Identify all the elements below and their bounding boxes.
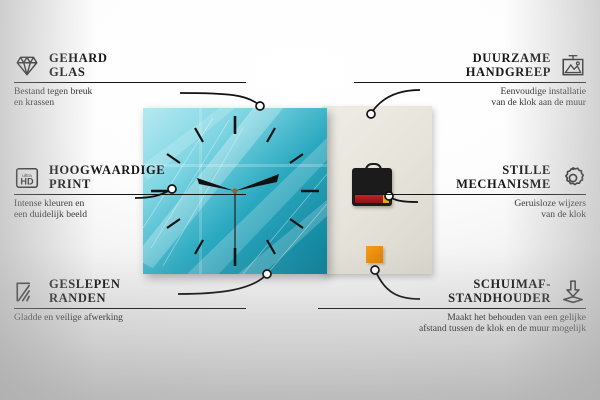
feature-gehard-glas: GEHARD GLAS Bestand tegen breuk en krass… bbox=[14, 52, 246, 109]
svg-text:HD: HD bbox=[20, 176, 34, 186]
divider bbox=[318, 308, 586, 309]
feature-subtitle: Gladde en veilige afwerking bbox=[14, 312, 246, 323]
feature-title: SCHUIMAF- STANDHOUDER bbox=[448, 278, 551, 305]
feature-subtitle: Intense kleuren en een duidelijk beeld bbox=[14, 198, 246, 221]
feature-heading: DUURZAME HANDGREEP bbox=[354, 52, 586, 79]
feature-heading: GEHARD GLAS bbox=[14, 52, 246, 79]
feature-subtitle: Bestand tegen breuk en krassen bbox=[14, 86, 246, 109]
ultra-hd-icon: ultra HD bbox=[14, 165, 40, 191]
feature-geslepen-randen: GESLEPEN RANDEN Gladde en veilige afwerk… bbox=[14, 278, 246, 323]
feature-title: STILLE MECHANISME bbox=[456, 164, 551, 191]
feature-title: GEHARD GLAS bbox=[49, 52, 107, 79]
feature-duurzame-handgreep: DUURZAME HANDGREEP Eenvoudige installati… bbox=[354, 52, 586, 109]
feature-title: HOOGWAARDIGE PRINT bbox=[49, 164, 165, 191]
feature-subtitle: Eenvoudige installatie van de klok aan d… bbox=[354, 86, 586, 109]
feature-subtitle: Maakt het behouden van een gelijke afsta… bbox=[318, 312, 586, 335]
infographic-canvas: GEHARD GLAS Bestand tegen breuk en krass… bbox=[0, 0, 600, 400]
beveled-edges-icon bbox=[14, 279, 40, 305]
feature-title: DUURZAME HANDGREEP bbox=[466, 52, 551, 79]
feature-schuimaf-standhouder: SCHUIMAF- STANDHOUDER Maakt het behouden… bbox=[318, 278, 586, 335]
divider bbox=[14, 308, 246, 309]
divider bbox=[14, 82, 246, 83]
feature-heading: STILLE MECHANISME bbox=[354, 164, 586, 191]
divider bbox=[354, 194, 586, 195]
feature-title: GESLEPEN RANDEN bbox=[49, 278, 121, 305]
feature-stille-mechanisme: STILLE MECHANISME Geruisloze wijzers van… bbox=[354, 164, 586, 221]
divider bbox=[14, 194, 246, 195]
wall-hanger-icon bbox=[560, 53, 586, 79]
feature-subtitle: Geruisloze wijzers van de klok bbox=[354, 198, 586, 221]
feature-hoogwaardige-print: ultra HD HOOGWAARDIGE PRINT Intense kleu… bbox=[14, 164, 246, 221]
feature-heading: ultra HD HOOGWAARDIGE PRINT bbox=[14, 164, 246, 191]
feature-heading: SCHUIMAF- STANDHOUDER bbox=[318, 278, 586, 305]
divider bbox=[354, 82, 586, 83]
diamond-icon bbox=[14, 53, 40, 79]
spacer-arrow-icon bbox=[560, 279, 586, 305]
gear-icon bbox=[560, 165, 586, 191]
feature-heading: GESLEPEN RANDEN bbox=[14, 278, 246, 305]
